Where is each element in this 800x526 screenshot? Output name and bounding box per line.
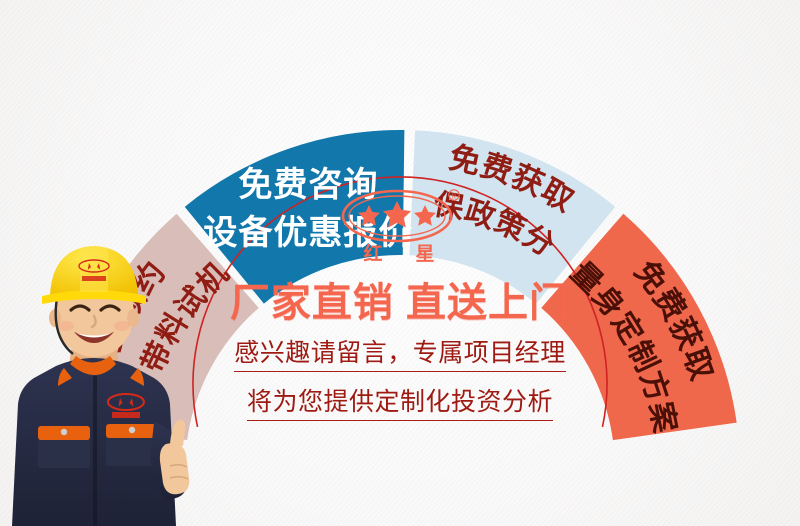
worker-illustration bbox=[0, 226, 229, 526]
logo-text-char-1: 红 bbox=[363, 242, 382, 265]
svg-text:R: R bbox=[452, 193, 457, 201]
poster-canvas: 免费预约到厂带料试机免费咨询设备优惠报价免费获取环保政策分析免费获取量身定制方案… bbox=[0, 0, 800, 526]
page-headline: 厂家直销 直送上门 bbox=[230, 282, 570, 324]
logo-text-char-2: 星 bbox=[415, 243, 434, 265]
brand-logo: R 红 星 bbox=[325, 182, 475, 268]
center-content: R 红 星 厂家直销 直送上门 感兴趣请留言，专属项目经理 将为您提供定制化投资… bbox=[195, 180, 605, 455]
sub-line-1: 感兴趣请留言，专属项目经理 bbox=[234, 338, 566, 372]
sub-line-2: 将为您提供定制化投资分析 bbox=[247, 387, 553, 421]
worker-photo bbox=[0, 226, 229, 526]
hard-hat-icon bbox=[42, 246, 146, 304]
thumb-icon bbox=[170, 420, 185, 446]
hongxing-logo-icon: R 红 星 bbox=[325, 182, 475, 268]
